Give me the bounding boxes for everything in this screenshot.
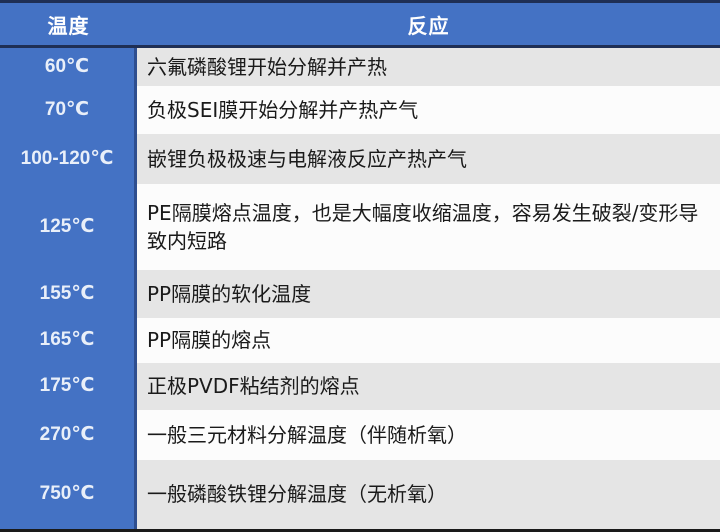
temperature-reaction-table: 温度 反应 60℃六氟磷酸锂开始分解并产热70℃负极SEI膜开始分解并产热产气1… <box>0 0 720 532</box>
reaction-cell: 正极PVDF粘结剂的熔点 <box>137 363 720 410</box>
reaction-text: 嵌锂负极极速与电解液反应产热产气 <box>147 145 467 173</box>
header-temperature: 温度 <box>0 3 137 45</box>
reaction-cell: PE隔膜熔点温度，也是大幅度收缩温度，容易发生破裂/变形导致内短路 <box>137 184 720 270</box>
reaction-text: 负极SEI膜开始分解并产热产气 <box>147 96 418 124</box>
reaction-cell: 嵌锂负极极速与电解液反应产热产气 <box>137 134 720 184</box>
temperature-cell: 100-120℃ <box>0 134 134 184</box>
table-row: 155℃PP隔膜的软化温度 <box>0 270 720 318</box>
table-header: 温度 反应 <box>0 0 720 48</box>
temperature-cell: 165℃ <box>0 318 134 363</box>
reaction-text: 一般三元材料分解温度（伴随析氧） <box>147 421 467 449</box>
reaction-text: PP隔膜的软化温度 <box>147 280 311 308</box>
table-row: 100-120℃嵌锂负极极速与电解液反应产热产气 <box>0 134 720 184</box>
table-row: 125℃PE隔膜熔点温度，也是大幅度收缩温度，容易发生破裂/变形导致内短路 <box>0 184 720 270</box>
reaction-cell: 一般三元材料分解温度（伴随析氧） <box>137 410 720 460</box>
table-row: 165℃PP隔膜的熔点 <box>0 318 720 363</box>
reaction-text: 正极PVDF粘结剂的熔点 <box>147 372 360 400</box>
reaction-text: PP隔膜的熔点 <box>147 326 271 354</box>
temperature-cell: 155℃ <box>0 270 134 318</box>
temperature-cell: 70℃ <box>0 86 134 134</box>
reaction-cell: 一般磷酸铁锂分解温度（无析氧） <box>137 460 720 529</box>
temperature-cell: 270℃ <box>0 410 134 460</box>
table-row: 70℃负极SEI膜开始分解并产热产气 <box>0 86 720 134</box>
table-row: 175℃正极PVDF粘结剂的熔点 <box>0 363 720 410</box>
table-row: 750℃一般磷酸铁锂分解温度（无析氧） <box>0 460 720 529</box>
table-row: 60℃六氟磷酸锂开始分解并产热 <box>0 48 720 86</box>
reaction-cell: PP隔膜的软化温度 <box>137 270 720 318</box>
table-body: 60℃六氟磷酸锂开始分解并产热70℃负极SEI膜开始分解并产热产气100-120… <box>0 48 720 529</box>
temperature-cell: 60℃ <box>0 48 134 86</box>
reaction-text: 六氟磷酸锂开始分解并产热 <box>147 53 387 81</box>
reaction-text: 一般磷酸铁锂分解温度（无析氧） <box>147 480 447 508</box>
header-reaction: 反应 <box>137 3 720 45</box>
reaction-cell: 负极SEI膜开始分解并产热产气 <box>137 86 720 134</box>
reaction-cell: 六氟磷酸锂开始分解并产热 <box>137 48 720 86</box>
temperature-cell: 125℃ <box>0 184 134 270</box>
temperature-cell: 750℃ <box>0 460 134 529</box>
reaction-text: PE隔膜熔点温度，也是大幅度收缩温度，容易发生破裂/变形导致内短路 <box>147 199 712 256</box>
temperature-cell: 175℃ <box>0 363 134 410</box>
reaction-cell: PP隔膜的熔点 <box>137 318 720 363</box>
table-row: 270℃一般三元材料分解温度（伴随析氧） <box>0 410 720 460</box>
